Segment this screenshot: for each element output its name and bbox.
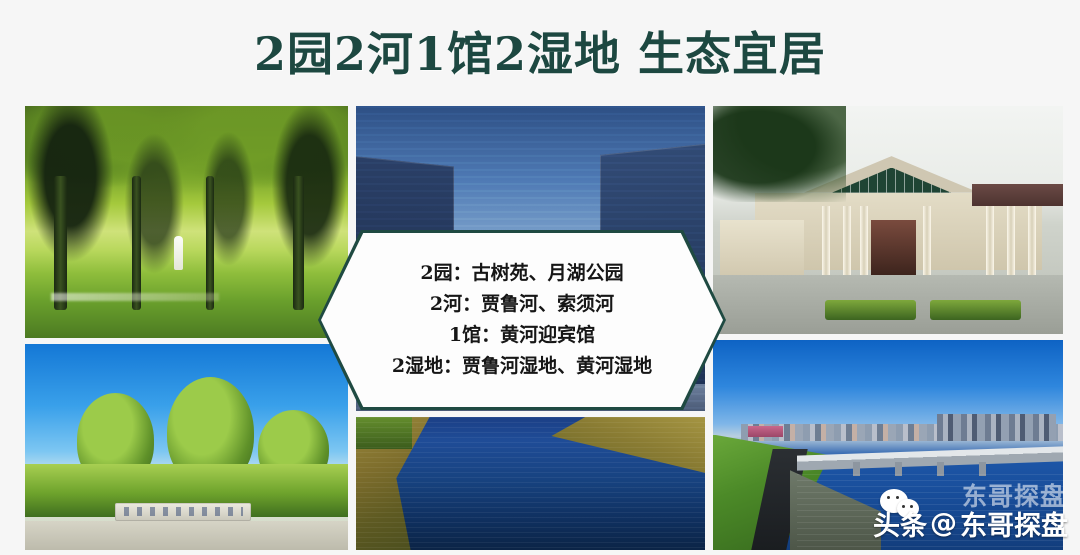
- hexagon-callout-inner: 2园：古树苑、月湖公园 2河：贾鲁河、索须河 1馆：黄河迎宾馆 2湿地：贾鲁河湿…: [321, 233, 723, 407]
- callout-line-3: 1馆：黄河迎宾馆: [449, 326, 595, 345]
- page-title: 2园2河1馆2湿地 生态宜居: [0, 18, 1080, 84]
- river-wetland-photo: [356, 417, 705, 550]
- watermark-at-symbol: @: [930, 508, 957, 539]
- tree-park-photo: [25, 106, 348, 338]
- slide-canvas: 2园2河1馆2湿地 生态宜居: [0, 0, 1080, 555]
- callout-line-4: 2湿地：贾鲁河湿地、黄河湿地: [392, 357, 652, 376]
- hexagon-callout: 2园：古树苑、月湖公园 2河：贾鲁河、索须河 1馆：黄河迎宾馆 2湿地：贾鲁河湿…: [318, 230, 726, 410]
- watermark-text: 头条 @ 东哥探盘: [873, 504, 1068, 543]
- watermark: 东哥探盘 头条 @ 东哥探盘: [822, 487, 1072, 547]
- blue-sky-trees-photo: [25, 344, 348, 550]
- callout-line-1: 2园：古树苑、月湖公园: [420, 264, 623, 283]
- watermark-platform: 头条: [873, 504, 927, 543]
- watermark-account: 东哥探盘: [960, 504, 1068, 543]
- guest-house-photo: [713, 106, 1063, 334]
- callout-line-2: 2河：贾鲁河、索须河: [430, 295, 614, 314]
